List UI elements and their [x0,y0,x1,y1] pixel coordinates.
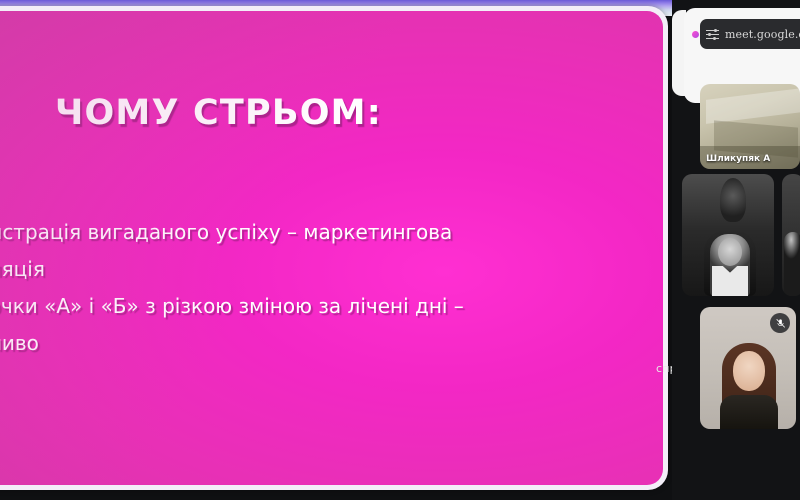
slide-frame: ЧОМУ СТРЬОМ: онстрація вигаданого успіху… [0,6,668,490]
participant-tile[interactable]: Шликупяк А [700,84,800,169]
participant-tile[interactable] [782,174,800,296]
tile-decor [706,88,800,124]
participant-tile[interactable] [682,174,774,296]
sliders-icon[interactable] [706,29,719,40]
participant-tiles: Шликупяк А [672,62,800,500]
tab-favicon-icon [692,31,699,38]
slide-body-line-3: точки «А» і «Б» з різкою зміною за лічен… [0,288,637,325]
slide-body-line-1: онстрація вигаданого успіху – маркетинго… [0,214,637,251]
tile-decor [720,395,778,429]
screen-root: ЧОМУ СТРЬОМ: онстрація вигаданого успіху… [0,0,800,500]
slide-body-line-4: кливо [0,325,637,362]
page-title: ЧОМУ СТРЬОМ: [55,93,382,133]
meet-sidebar: meet.google.c Шликупяк А [672,0,800,500]
slide-canvas: ЧОМУ СТРЬОМ: онстрація вигаданого успіху… [0,11,663,485]
address-bar-url[interactable]: meet.google.c [725,28,800,41]
participant-tile[interactable] [700,307,796,429]
mic-muted-icon [770,313,790,333]
tile-decor [720,178,746,222]
browser-address-bar[interactable]: meet.google.c [700,19,800,49]
slide-body-line-2: уляція [0,251,637,288]
slide-body-text: онстрація вигаданого успіху – маркетинго… [0,214,637,362]
tile-decor [718,238,742,266]
share-edge-partial-text: спре [656,362,672,375]
participant-name-label: Шликупяк А [706,154,796,164]
tile-decor [784,232,800,296]
tile-decor [733,351,765,391]
shared-screen-area[interactable]: ЧОМУ СТРЬОМ: онстрація вигаданого успіху… [0,0,672,500]
